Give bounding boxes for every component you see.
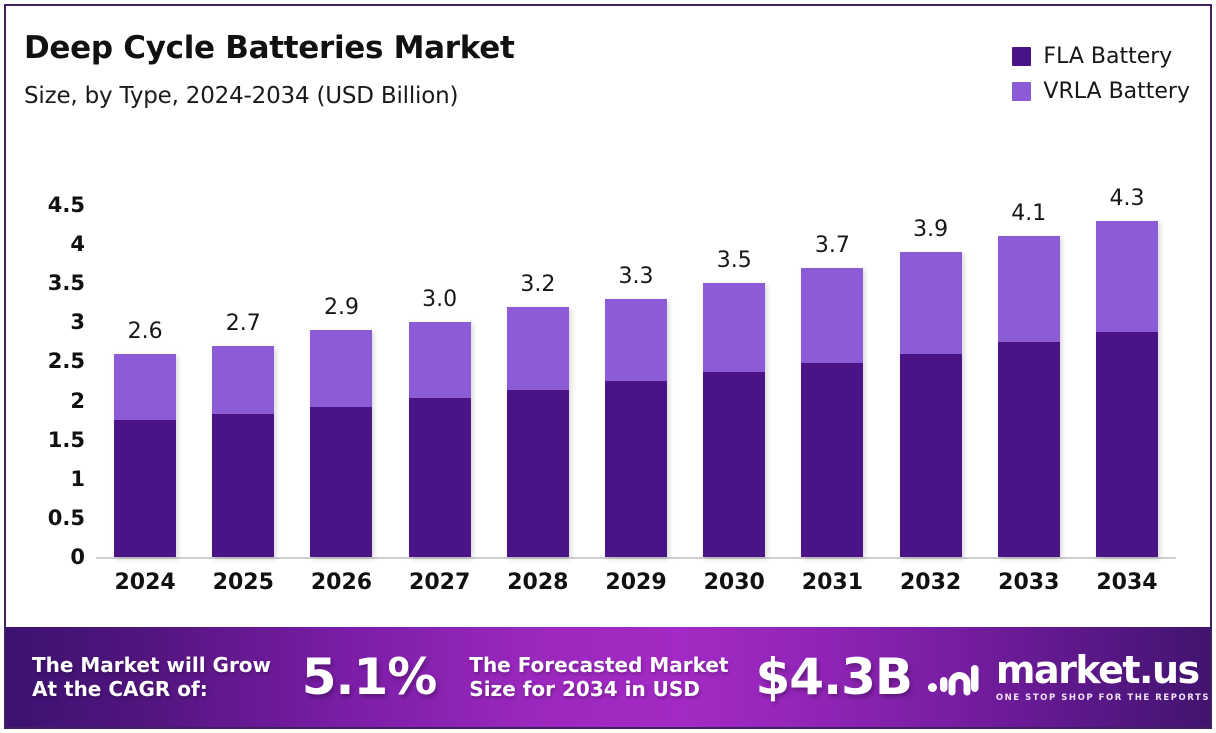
stacked-bar[interactable] bbox=[900, 252, 962, 557]
y-axis-tick: 0.5 bbox=[25, 506, 85, 530]
cagr-caption: The Market will Grow At the CAGR of: bbox=[32, 653, 300, 702]
y-axis-tick: 0 bbox=[25, 545, 85, 569]
bar-value-label: 3.9 bbox=[913, 217, 948, 242]
bar-value-label: 2.6 bbox=[128, 319, 163, 344]
bar-segment-fla[interactable] bbox=[998, 342, 1060, 557]
bar-segment-vrla[interactable] bbox=[212, 346, 274, 414]
bar-value-label: 3.0 bbox=[422, 287, 457, 312]
logo-wordmark: market.us ONE STOP SHOP FOR THE REPORTS bbox=[996, 651, 1210, 703]
bar-segment-vrla[interactable] bbox=[900, 252, 962, 354]
stacked-bar[interactable] bbox=[507, 307, 569, 557]
x-axis-tick: 2031 bbox=[783, 570, 881, 616]
bar-value-label: 3.2 bbox=[520, 272, 555, 297]
y-axis-tick: 2.5 bbox=[25, 349, 85, 373]
logo-tagline: ONE STOP SHOP FOR THE REPORTS bbox=[996, 693, 1210, 703]
y-axis-tick: 3 bbox=[25, 310, 85, 334]
stacked-bar[interactable] bbox=[605, 299, 667, 557]
stacked-bar[interactable] bbox=[212, 346, 274, 557]
bar-group: 2.9 bbox=[292, 150, 390, 557]
bar-segment-vrla[interactable] bbox=[114, 354, 176, 420]
bar-segment-fla[interactable] bbox=[703, 372, 765, 557]
bar-value-label: 3.3 bbox=[619, 264, 654, 289]
y-axis-tick: 1 bbox=[25, 467, 85, 491]
stacked-bar[interactable] bbox=[409, 322, 471, 557]
bar-value-label: 4.1 bbox=[1011, 201, 1046, 226]
bar-group: 3.0 bbox=[391, 150, 489, 557]
y-axis-tick: 4 bbox=[25, 232, 85, 256]
bar-segment-fla[interactable] bbox=[212, 414, 274, 557]
bar-group: 3.2 bbox=[489, 150, 587, 557]
bar-group: 3.7 bbox=[783, 150, 881, 557]
bar-segment-vrla[interactable] bbox=[409, 322, 471, 398]
bar-segment-fla[interactable] bbox=[605, 381, 667, 557]
bar-segment-fla[interactable] bbox=[114, 420, 176, 557]
bar-group: 3.3 bbox=[587, 150, 685, 557]
y-axis-tick: 2 bbox=[25, 389, 85, 413]
y-axis-labels: 00.511.522.533.544.5 bbox=[25, 0, 85, 620]
x-axis-tick: 2027 bbox=[391, 570, 489, 616]
bar-segment-vrla[interactable] bbox=[605, 299, 667, 381]
bar-segment-fla[interactable] bbox=[900, 354, 962, 557]
logo-name: market.us bbox=[996, 651, 1199, 689]
x-axis-tick: 2024 bbox=[96, 570, 194, 616]
y-axis-tick: 4.5 bbox=[25, 193, 85, 217]
plot-area: 00.511.522.533.544.5 2.62.72.93.03.23.33… bbox=[0, 0, 1216, 620]
bars-container: 2.62.72.93.03.23.33.53.73.94.14.3 bbox=[96, 150, 1176, 557]
stacked-bar[interactable] bbox=[310, 330, 372, 557]
chart-infographic: Deep Cycle Batteries Market Size, by Typ… bbox=[0, 0, 1216, 733]
bar-group: 3.5 bbox=[685, 150, 783, 557]
bar-segment-fla[interactable] bbox=[507, 390, 569, 557]
market-us-logo[interactable]: market.us ONE STOP SHOP FOR THE REPORTS bbox=[928, 651, 1210, 703]
x-axis-tick: 2032 bbox=[882, 570, 980, 616]
cagr-value: 5.1% bbox=[302, 648, 464, 706]
bar-segment-vrla[interactable] bbox=[310, 330, 372, 407]
bar-value-label: 3.5 bbox=[717, 248, 752, 273]
market-us-logo-mark-icon bbox=[928, 657, 984, 697]
bar-segment-vrla[interactable] bbox=[1096, 221, 1158, 332]
bar-value-label: 3.7 bbox=[815, 233, 850, 258]
x-axis-tick: 2034 bbox=[1078, 570, 1176, 616]
x-axis-tick: 2030 bbox=[685, 570, 783, 616]
x-axis-tick: 2029 bbox=[587, 570, 685, 616]
bar-segment-vrla[interactable] bbox=[801, 268, 863, 363]
forecast-caption: The Forecasted Market Size for 2034 in U… bbox=[469, 653, 755, 702]
bar-segment-fla[interactable] bbox=[1096, 332, 1158, 557]
bar-value-label: 2.9 bbox=[324, 295, 359, 320]
stacked-bar[interactable] bbox=[998, 236, 1060, 557]
x-axis-line bbox=[96, 557, 1176, 559]
bar-segment-vrla[interactable] bbox=[507, 307, 569, 391]
x-axis-tick: 2025 bbox=[194, 570, 292, 616]
stacked-bar[interactable] bbox=[801, 268, 863, 557]
bar-group: 4.3 bbox=[1078, 150, 1176, 557]
bar-group: 4.1 bbox=[980, 150, 1078, 557]
x-axis-tick: 2028 bbox=[489, 570, 587, 616]
y-axis-tick: 3.5 bbox=[25, 271, 85, 295]
stacked-bar[interactable] bbox=[114, 354, 176, 557]
bar-segment-vrla[interactable] bbox=[703, 283, 765, 372]
x-axis-labels: 2024202520262027202820292030203120322033… bbox=[96, 570, 1176, 616]
x-axis-tick: 2033 bbox=[980, 570, 1078, 616]
bar-group: 2.6 bbox=[96, 150, 194, 557]
bar-value-label: 4.3 bbox=[1109, 186, 1144, 211]
bar-segment-fla[interactable] bbox=[409, 398, 471, 557]
bar-group: 2.7 bbox=[194, 150, 292, 557]
bar-segment-fla[interactable] bbox=[801, 363, 863, 557]
y-axis-tick: 1.5 bbox=[25, 428, 85, 452]
stacked-bar[interactable] bbox=[703, 283, 765, 557]
stacked-bar[interactable] bbox=[1096, 221, 1158, 557]
bar-group: 3.9 bbox=[882, 150, 980, 557]
bar-segment-vrla[interactable] bbox=[998, 236, 1060, 342]
forecast-value: $4.3B bbox=[756, 648, 920, 706]
bar-segment-fla[interactable] bbox=[310, 407, 372, 557]
x-axis-tick: 2026 bbox=[292, 570, 390, 616]
footer-banner: The Market will Grow At the CAGR of: 5.1… bbox=[6, 627, 1210, 727]
bar-value-label: 2.7 bbox=[226, 311, 261, 336]
